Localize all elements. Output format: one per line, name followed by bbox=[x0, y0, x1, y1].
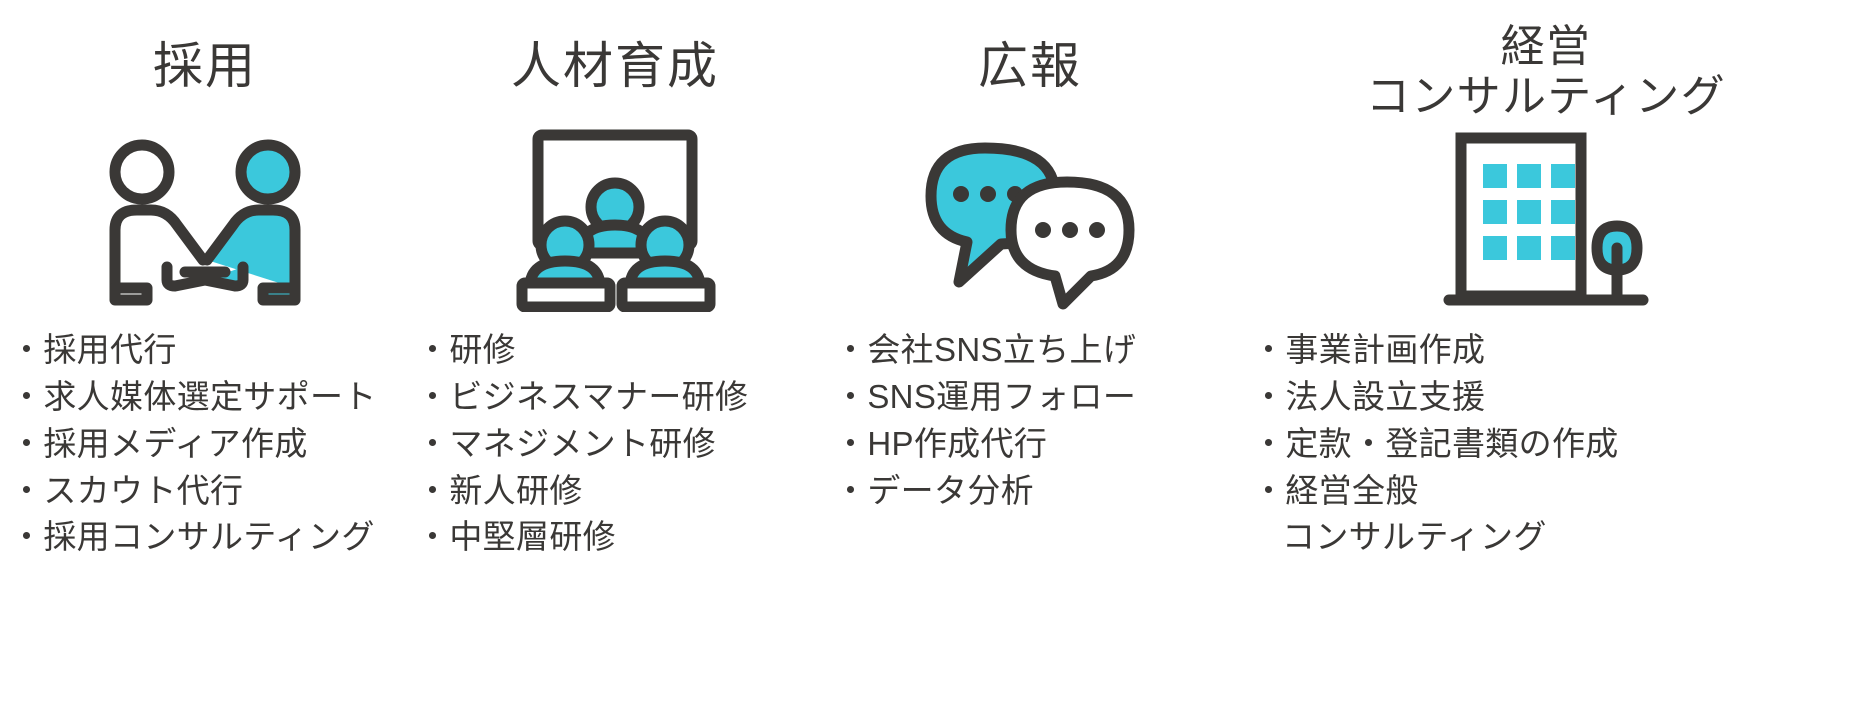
list-item: ・HP作成代行 bbox=[834, 421, 1136, 468]
service-column-recruiting: 採用 ・採用代行 ・求人媒体選定サポート ・採用メディア作成 bbox=[0, 0, 410, 726]
service-column-public-relations: 広報 ・会社SNS立ち上げ ・SNS運用フォロー ・HP作成代行 ・データ分析 bbox=[820, 0, 1240, 726]
service-column-human-resource-development: 人材育成 ・研修 ・ビジネスマナー研修 ・マネジメント bbox=[410, 0, 820, 726]
list-item: ・ビジネスマナー研修 bbox=[416, 374, 748, 421]
list-item: ・法人設立支援 bbox=[1252, 374, 1619, 421]
column-heading-human-resource-development: 人材育成 bbox=[511, 0, 719, 112]
list-item: ・研修 bbox=[416, 327, 748, 374]
service-list-public-relations: ・会社SNS立ち上げ ・SNS運用フォロー ・HP作成代行 ・データ分析 bbox=[834, 327, 1136, 514]
list-item: ・スカウト代行 bbox=[10, 468, 377, 515]
service-list-recruiting: ・採用代行 ・求人媒体選定サポート ・採用メディア作成 ・スカウト代行 ・採用コ… bbox=[10, 327, 377, 561]
list-item: ・事業計画作成 bbox=[1252, 327, 1619, 374]
list-item: ・中堅層研修 bbox=[416, 514, 748, 561]
list-item: ・新人研修 bbox=[416, 468, 748, 515]
handshake-icon bbox=[85, 112, 325, 327]
list-item: ・マネジメント研修 bbox=[416, 421, 748, 468]
list-item: ・データ分析 bbox=[834, 468, 1136, 515]
list-item: ・経営全般 bbox=[1252, 468, 1619, 515]
service-column-management-consulting: 経営 コンサルティング bbox=[1240, 0, 1852, 726]
list-item-continuation: コンサルティング bbox=[1252, 514, 1619, 561]
speech-bubbles-icon bbox=[915, 112, 1145, 327]
column-heading-recruiting: 採用 bbox=[153, 0, 257, 112]
column-heading-management-consulting: 経営 コンサルティング bbox=[1366, 0, 1726, 112]
training-presentation-icon bbox=[510, 112, 720, 327]
column-heading-public-relations: 広報 bbox=[978, 0, 1082, 112]
service-list-management-consulting: ・事業計画作成 ・法人設立支援 ・定款・登記書類の作成 ・経営全般 コンサルティ… bbox=[1252, 327, 1619, 561]
services-overview: 採用 ・採用代行 ・求人媒体選定サポート ・採用メディア作成 bbox=[0, 0, 1852, 726]
service-list-human-resource-development: ・研修 ・ビジネスマナー研修 ・マネジメント研修 ・新人研修 ・中堅層研修 bbox=[416, 327, 748, 561]
list-item: ・採用代行 bbox=[10, 327, 377, 374]
list-item: ・定款・登記書類の作成 bbox=[1252, 421, 1619, 468]
list-item: ・求人媒体選定サポート bbox=[10, 374, 377, 421]
list-item: ・採用メディア作成 bbox=[10, 421, 377, 468]
list-item: ・会社SNS立ち上げ bbox=[834, 327, 1136, 374]
list-item: ・SNS運用フォロー bbox=[834, 374, 1136, 421]
office-building-icon bbox=[1431, 112, 1661, 327]
list-item: ・採用コンサルティング bbox=[10, 514, 377, 561]
